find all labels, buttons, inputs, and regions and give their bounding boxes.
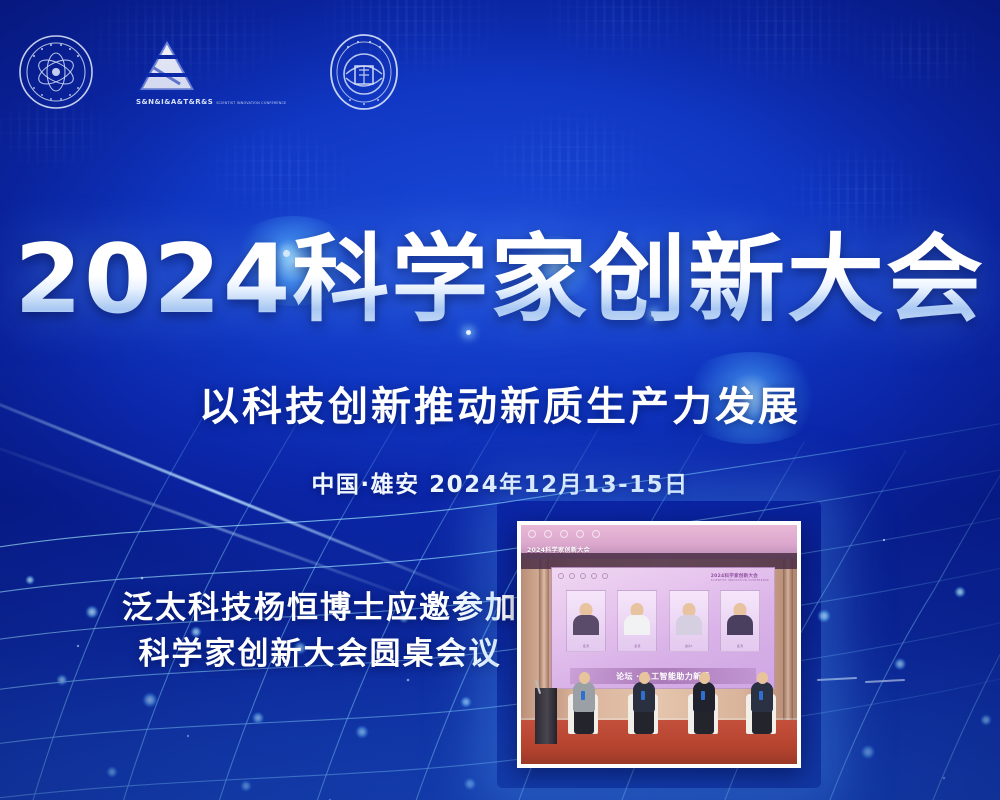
screen-icon-4 — [591, 573, 597, 579]
panelist-badge — [759, 691, 763, 700]
screen-icon-5 — [602, 573, 608, 579]
banner-icon-2 — [544, 530, 552, 538]
speaker-card: 嘉 宾 — [720, 590, 760, 652]
banner-icon-3 — [560, 530, 568, 538]
main-title-wrap: 2024科学家创新大会 — [0, 228, 1000, 332]
panelist-head — [699, 672, 710, 684]
caption-line-2: 科学家创新大会圆桌会议 — [120, 631, 520, 677]
speaker-body — [727, 615, 753, 635]
panelist-head — [757, 672, 768, 684]
logo-row: S&N&I&A&T&R&S SCIENTIST INNOVATION CONFE… — [18, 32, 400, 112]
panelist-badge — [581, 691, 585, 700]
speaker-name: 嘉 宾 — [618, 645, 656, 648]
panelist — [687, 662, 721, 734]
panelist — [627, 662, 661, 734]
triangle-mark-caption: S&N&I&A&T&R&S SCIENTIST INNOVATION CONFE… — [136, 98, 286, 106]
event-photo[interactable]: 2024科学家创新大会 2024科学家创新大会 SCIENTIST INNOVA… — [517, 521, 801, 768]
poster-canvas: S&N&I&A&T&R&S SCIENTIST INNOVATION CONFE… — [0, 0, 1000, 800]
banner-icon-5 — [592, 530, 600, 538]
speaker-body — [624, 615, 650, 635]
panelist-head — [579, 672, 590, 684]
event-photo-inner: 2024科学家创新大会 2024科学家创新大会 SCIENTIST INNOVA… — [521, 525, 797, 764]
banner-icon-1 — [528, 530, 536, 538]
main-title: 2024科学家创新大会 — [15, 228, 985, 332]
screen-speaker-cards: 嘉 宾 嘉 宾 主持人 嘉 宾 — [566, 590, 760, 652]
speaker-card: 嘉 宾 — [566, 590, 606, 652]
emblem-round-right-icon — [328, 32, 400, 112]
photo-banner-icon-row — [528, 530, 600, 538]
photo-podium — [535, 688, 557, 744]
emblem-round-left-icon — [18, 34, 94, 110]
speaker-body — [573, 615, 599, 635]
panelist-badge — [641, 691, 645, 700]
caption-line-1: 泛太科技杨恒博士应邀参加 — [120, 585, 520, 631]
event-meta-line: 中国·雄安 2024年12月13-15日 — [0, 470, 1000, 500]
speaker-card: 主持人 — [669, 590, 709, 652]
screen-brand: 2024科学家创新大会 SCIENTIST INNOVATION CONFERE… — [711, 573, 769, 582]
speaker-body — [676, 615, 702, 635]
banner-icon-4 — [576, 530, 584, 538]
screen-icon-3 — [580, 573, 586, 579]
subtitle: 以科技创新推动新质生产力发展 — [0, 382, 1000, 432]
speaker-name: 嘉 宾 — [721, 645, 759, 648]
screen-icon-2 — [569, 573, 575, 579]
panelist-badge — [701, 691, 705, 700]
speaker-card: 嘉 宾 — [617, 590, 657, 652]
speaker-name: 主持人 — [670, 645, 708, 648]
panelist — [567, 662, 601, 734]
panelist — [745, 662, 779, 734]
triangle-mark-icon: S&N&I&A&T&R&S SCIENTIST INNOVATION CONFE… — [136, 38, 286, 106]
screen-icon-1 — [558, 573, 564, 579]
panelist-head — [639, 672, 650, 684]
photo-banner-text: 2024科学家创新大会 — [527, 545, 590, 554]
caption-block: 泛太科技杨恒博士应邀参加 科学家创新大会圆桌会议 — [120, 585, 520, 677]
screen-icon-row — [558, 573, 608, 579]
speaker-name: 嘉 宾 — [567, 645, 605, 648]
